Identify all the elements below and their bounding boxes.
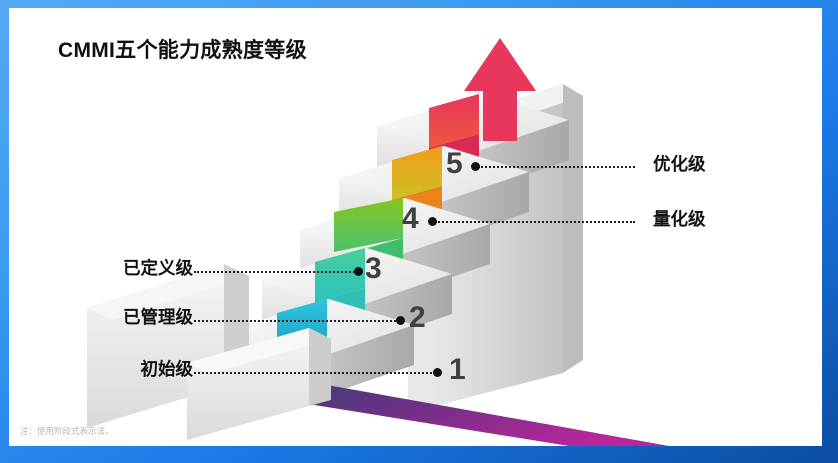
- leader-dot-level-1: [433, 368, 442, 377]
- leader-line-level-3: [194, 271, 358, 273]
- footnote: 注：使用阶段式表示法。: [20, 425, 114, 437]
- slide-canvas: CMMI五个能力成熟度等级 注：使用阶段式表示法。 1 初始级 2 已管理级 3…: [9, 8, 822, 446]
- step-number-3: 3: [365, 254, 382, 284]
- step-number-2: 2: [409, 303, 426, 333]
- stage-label-level-4: 量化级: [653, 206, 753, 231]
- slide-frame: CMMI五个能力成熟度等级 注：使用阶段式表示法。 1 初始级 2 已管理级 3…: [0, 0, 838, 463]
- stage-label-level-3: 已定义级: [91, 255, 193, 280]
- stage-label-level-5: 优化级: [653, 151, 753, 176]
- leader-line-level-2: [194, 320, 400, 322]
- leader-dot-level-3: [354, 267, 363, 276]
- stage-label-level-1: 初始级: [109, 356, 193, 381]
- leader-line-level-5: [478, 166, 635, 168]
- leader-dot-level-2: [396, 316, 405, 325]
- stage-label-level-2: 已管理级: [91, 304, 193, 329]
- step-number-4: 4: [402, 204, 419, 234]
- leader-dot-level-5: [471, 162, 480, 171]
- page-title: CMMI五个能力成熟度等级: [58, 34, 307, 64]
- step-number-1: 1: [449, 355, 466, 385]
- leader-line-level-4: [435, 221, 635, 223]
- leader-line-level-1: [194, 372, 436, 374]
- leader-dot-level-4: [428, 217, 437, 226]
- step-number-5: 5: [446, 149, 463, 179]
